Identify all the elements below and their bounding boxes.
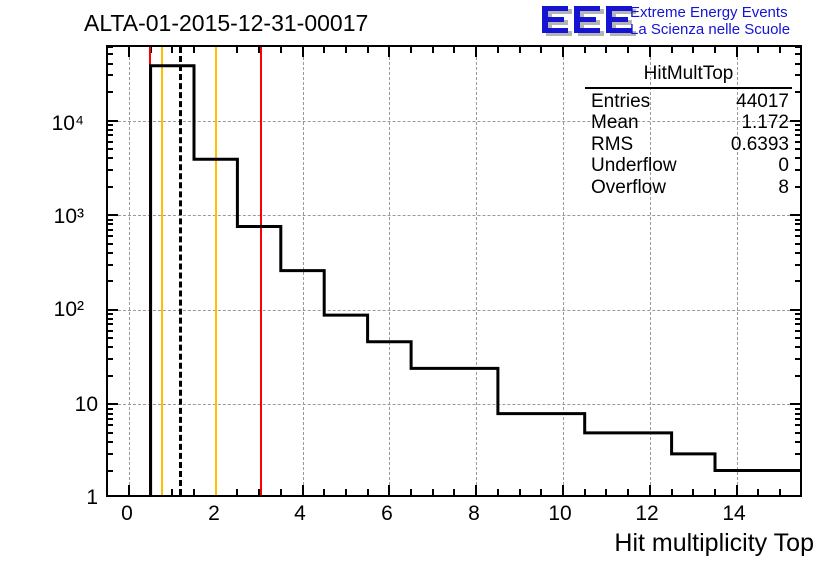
y-tick-label-10000: 10⁴ — [14, 112, 84, 136]
stats-value-rms: 0.6393 — [731, 134, 789, 156]
stats-key-overflow: Overflow — [591, 177, 666, 199]
stats-key-rms: RMS — [591, 134, 633, 156]
stats-box: HitMultTop Entries 44017 Mean 1.172 RMS … — [585, 63, 792, 198]
x-tick-label-12: 12 — [627, 502, 667, 526]
x-tick-label-6: 6 — [367, 502, 407, 526]
x-tick-label-0: 0 — [107, 502, 147, 526]
y-tick-label-100: 10² — [14, 298, 84, 322]
y-tick-label-1: 1 — [28, 486, 98, 510]
x-tick-label-8: 8 — [454, 502, 494, 526]
stats-row-mean: Mean 1.172 — [585, 112, 792, 134]
x-tick-label-14: 14 — [714, 502, 754, 526]
x-tick-label-10: 10 — [540, 502, 580, 526]
stats-key-underflow: Underflow — [591, 155, 677, 177]
stats-row-entries: Entries 44017 — [585, 91, 792, 113]
stats-value-underflow: 0 — [778, 155, 789, 177]
stats-divider — [585, 87, 792, 89]
y-tick-label-1000: 10³ — [14, 205, 84, 229]
stats-value-overflow: 8 — [778, 177, 789, 199]
stats-value-mean: 1.172 — [741, 112, 789, 134]
stats-row-underflow: Underflow 0 — [585, 155, 792, 177]
stats-key-entries: Entries — [591, 91, 650, 113]
stats-value-entries: 44017 — [736, 91, 789, 113]
y-tick-label-10: 10 — [28, 393, 98, 417]
stats-row-rms: RMS 0.6393 — [585, 134, 792, 156]
x-axis-title: Hit multiplicity Top — [614, 529, 814, 558]
x-tick-label-4: 4 — [280, 502, 320, 526]
stats-title: HitMultTop — [585, 63, 792, 86]
stats-key-mean: Mean — [591, 112, 639, 134]
stats-row-overflow: Overflow 8 — [585, 177, 792, 199]
x-tick-label-2: 2 — [194, 502, 234, 526]
root-canvas: ALTA-01-2015-12-31-00017 Extreme Energy … — [0, 0, 836, 572]
